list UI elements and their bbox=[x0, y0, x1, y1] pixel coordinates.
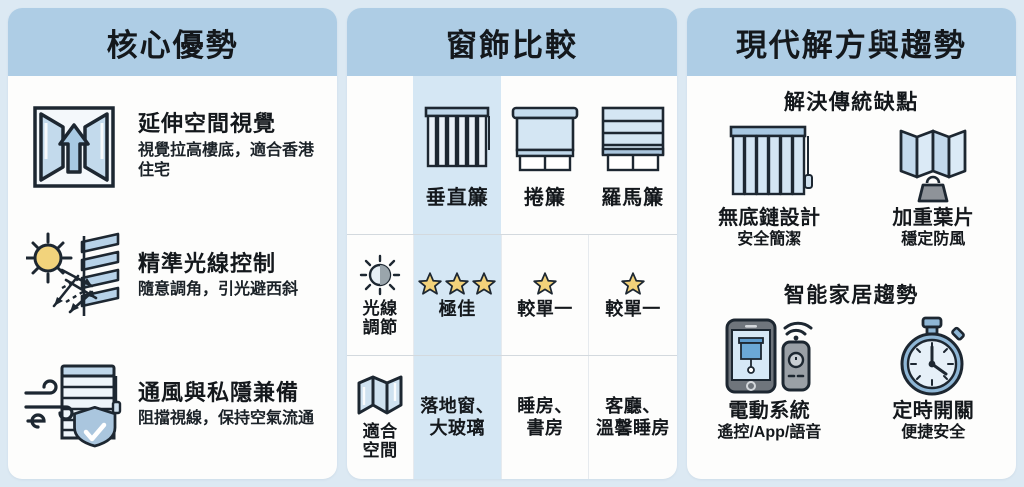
cell-space-vertical: 落地窗、 大玻璃 bbox=[413, 356, 501, 479]
solution-item: 定時開關 便捷安全 bbox=[863, 313, 1003, 470]
smartphone-remote-icon bbox=[719, 313, 819, 399]
feature-text: 延伸空間視覺 視覺拉高樓底，適合香港住宅 bbox=[138, 111, 323, 181]
cell-space-roller: 睡房、 書房 bbox=[501, 356, 589, 479]
comparison-table: 垂直簾 bbox=[347, 76, 676, 479]
feature-title: 延伸空間視覺 bbox=[138, 111, 323, 137]
star-icon bbox=[620, 271, 646, 297]
vertical-blind-wand-icon bbox=[723, 120, 815, 206]
feature-desc: 阻擋視線，保持空氣流通 bbox=[138, 409, 318, 429]
cell-light-control-vertical: 極佳 bbox=[413, 235, 501, 356]
stopwatch-timer-icon bbox=[890, 313, 976, 399]
solution-subtitle: 穩定防風 bbox=[901, 231, 965, 249]
solution-items: 無底鏈設計 安全簡潔 bbox=[699, 120, 1004, 277]
solutions-body: 解決傳統缺點 bbox=[687, 76, 1016, 479]
star-icon bbox=[532, 271, 558, 297]
cell-value: 極佳 bbox=[414, 299, 501, 321]
feature-text: 精準光線控制 隨意調角，引光避西斜 bbox=[138, 251, 323, 301]
column-name: 捲簾 bbox=[501, 181, 589, 210]
cell-space-roman: 客廳、 溫馨睡房 bbox=[589, 356, 677, 479]
panel-body-solutions: 解決傳統缺點 bbox=[687, 76, 1016, 479]
column-header-roman-blind: 羅馬簾 bbox=[589, 76, 677, 235]
feature-item: 精準光線控制 隨意調角，引光避西斜 bbox=[22, 228, 323, 324]
star-rating bbox=[414, 271, 501, 297]
panel-core-advantages: 核心優勢 bbox=[8, 8, 337, 479]
star-icon bbox=[444, 271, 470, 297]
panel-title-comparison: 窗飾比較 bbox=[446, 20, 578, 65]
feature-text: 通風與私隱兼備 阻擋視線，保持空氣流通 bbox=[138, 380, 323, 430]
solution-title: 電動系統 bbox=[728, 400, 810, 423]
row-label-suitable-space: 適合 空間 bbox=[347, 356, 413, 479]
row-label-text: 光線 調節 bbox=[347, 299, 413, 337]
solution-title: 無底鏈設計 bbox=[718, 207, 821, 230]
brightness-sun-icon bbox=[347, 254, 413, 296]
column-header-vertical-blind: 垂直簾 bbox=[413, 76, 501, 235]
section-heading: 智能家居趨勢 bbox=[784, 279, 919, 309]
solution-section-traditional-drawbacks: 解決傳統缺點 bbox=[699, 84, 1004, 277]
panel-title-advantages: 核心優勢 bbox=[107, 20, 239, 65]
room-space-icon bbox=[347, 375, 413, 419]
solution-item: 電動系統 遙控/App/語音 bbox=[699, 313, 839, 470]
section-heading: 解決傳統缺點 bbox=[784, 86, 919, 116]
feature-item: 延伸空間視覺 視覺拉高樓底，適合香港住宅 bbox=[22, 99, 323, 195]
cell-light-control-roller: 較單一 bbox=[501, 235, 589, 356]
cell-value: 較單一 bbox=[589, 299, 676, 321]
solution-title: 定時開關 bbox=[892, 400, 974, 423]
roller-blind-icon bbox=[501, 100, 589, 179]
solution-section-smart-home: 智能家居趨勢 bbox=[699, 277, 1004, 470]
table-row: 適合 空間 落地窗、 大玻璃 睡房、 書房 客廳、 溫馨睡房 bbox=[347, 356, 676, 479]
solution-item: 加重葉片 穩定防風 bbox=[863, 120, 1003, 277]
panel-window-comparison: 窗飾比較 bbox=[347, 8, 676, 479]
cell-value: 落地窗、 大玻璃 bbox=[414, 396, 501, 439]
panel-body-advantages: 延伸空間視覺 視覺拉高樓底，適合香港住宅 bbox=[8, 76, 337, 479]
feature-title: 通風與私隱兼備 bbox=[138, 380, 323, 406]
feature-desc: 隨意調角，引光避西斜 bbox=[138, 280, 318, 300]
cell-value: 較單一 bbox=[502, 299, 589, 321]
wind-blind-shield-icon bbox=[22, 357, 126, 453]
feature-list: 延伸空間視覺 視覺拉高樓底，適合香港住宅 bbox=[8, 76, 337, 479]
panel-header-advantages: 核心優勢 bbox=[8, 8, 337, 76]
solution-subtitle: 安全簡潔 bbox=[737, 231, 801, 249]
weighted-vane-icon bbox=[887, 120, 979, 206]
vertical-blind-icon bbox=[413, 100, 501, 179]
table-corner-cell bbox=[347, 76, 413, 235]
panel-modern-solutions: 現代解方與趨勢 解決傳統缺點 bbox=[687, 8, 1016, 479]
sun-slats-light-control-icon bbox=[22, 228, 126, 324]
solution-subtitle: 遙控/App/語音 bbox=[717, 424, 821, 442]
star-icon bbox=[417, 271, 443, 297]
star-icon bbox=[471, 271, 497, 297]
feature-desc: 視覺拉高樓底，適合香港住宅 bbox=[138, 141, 318, 182]
cell-value: 睡房、 書房 bbox=[502, 396, 589, 439]
feature-item: 通風與私隱兼備 阻擋視線，保持空氣流通 bbox=[22, 357, 323, 453]
cell-light-control-roman: 較單一 bbox=[589, 235, 677, 356]
row-label-text: 適合 空間 bbox=[347, 422, 413, 460]
feature-title: 精準光線控制 bbox=[138, 251, 323, 277]
table-header-row: 垂直簾 bbox=[347, 76, 676, 235]
panel-header-solutions: 現代解方與趨勢 bbox=[687, 8, 1016, 76]
star-rating bbox=[502, 271, 589, 297]
column-name: 羅馬簾 bbox=[589, 181, 677, 210]
column-name: 垂直簾 bbox=[413, 181, 501, 210]
panel-body-comparison: 垂直簾 bbox=[347, 76, 676, 479]
open-door-up-arrow-icon bbox=[22, 99, 126, 195]
panel-header-comparison: 窗飾比較 bbox=[347, 8, 676, 76]
roman-blind-icon bbox=[589, 100, 677, 179]
solution-items: 電動系統 遙控/App/語音 bbox=[699, 313, 1004, 470]
star-rating bbox=[589, 271, 676, 297]
column-header-roller-blind: 捲簾 bbox=[501, 76, 589, 235]
panel-title-solutions: 現代解方與趨勢 bbox=[736, 20, 967, 65]
solution-title: 加重葉片 bbox=[892, 207, 974, 230]
solution-item: 無底鏈設計 安全簡潔 bbox=[699, 120, 839, 277]
row-label-light-control: 光線 調節 bbox=[347, 235, 413, 356]
infographic-page: 核心優勢 bbox=[0, 0, 1024, 487]
table-row: 光線 調節 極佳 bbox=[347, 235, 676, 356]
solution-subtitle: 便捷安全 bbox=[901, 424, 965, 442]
cell-value: 客廳、 溫馨睡房 bbox=[589, 396, 676, 439]
